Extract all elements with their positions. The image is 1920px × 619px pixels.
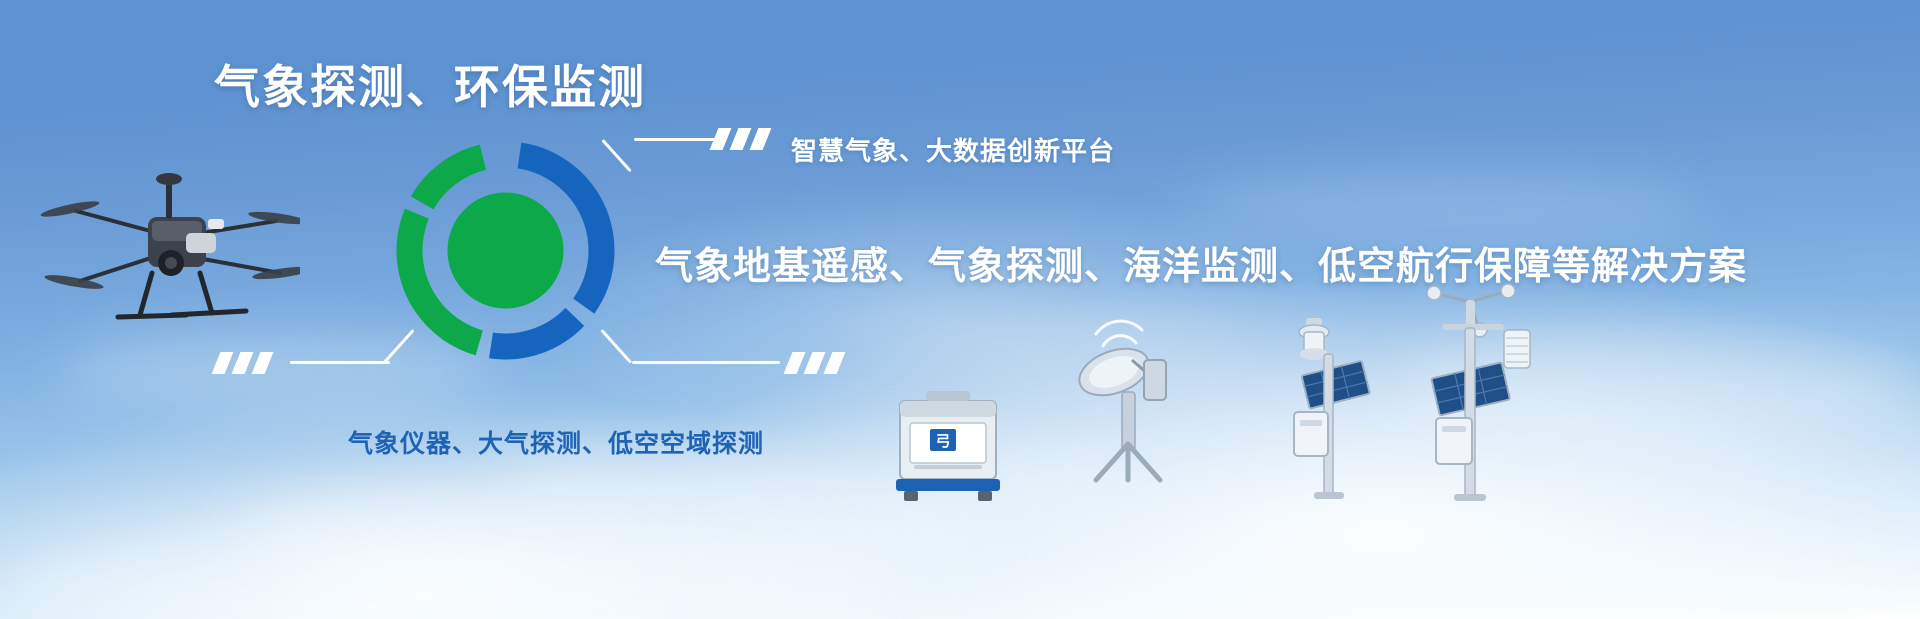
callout-top-label: 智慧气象、大数据创新平台 <box>791 131 1115 168</box>
banner-hero: 气象探测、环保监测 智慧气象、大数据创新平台 气象 <box>0 0 1920 619</box>
slash-marks-bottom-right <box>788 352 841 374</box>
svg-text:弓: 弓 <box>935 433 950 450</box>
solar-weather-station-icon <box>1278 310 1383 500</box>
page-title: 气象探测、环保监测 <box>214 51 646 117</box>
cloud-wisp <box>0 520 900 619</box>
donut-ring-graphic <box>388 133 623 368</box>
cloud-wisp <box>1180 170 1700 240</box>
instrument-cabinet-icon: 弓 <box>892 385 1004 503</box>
callout-bottom-label: 气象仪器、大气探测、低空空域探测 <box>348 424 764 460</box>
solar-anemometer-station-icon <box>1408 278 1538 503</box>
slash-marks-top <box>714 128 767 150</box>
satellite-dish-icon <box>1070 300 1190 485</box>
slash-marks-bottom-left <box>216 352 269 374</box>
quadcopter-drone-icon <box>40 155 300 340</box>
main-description-label: 气象地基遥感、气象探测、海洋监测、低空航行保障等解决方案 <box>655 235 1747 290</box>
cloud-wisp <box>240 470 1000 590</box>
